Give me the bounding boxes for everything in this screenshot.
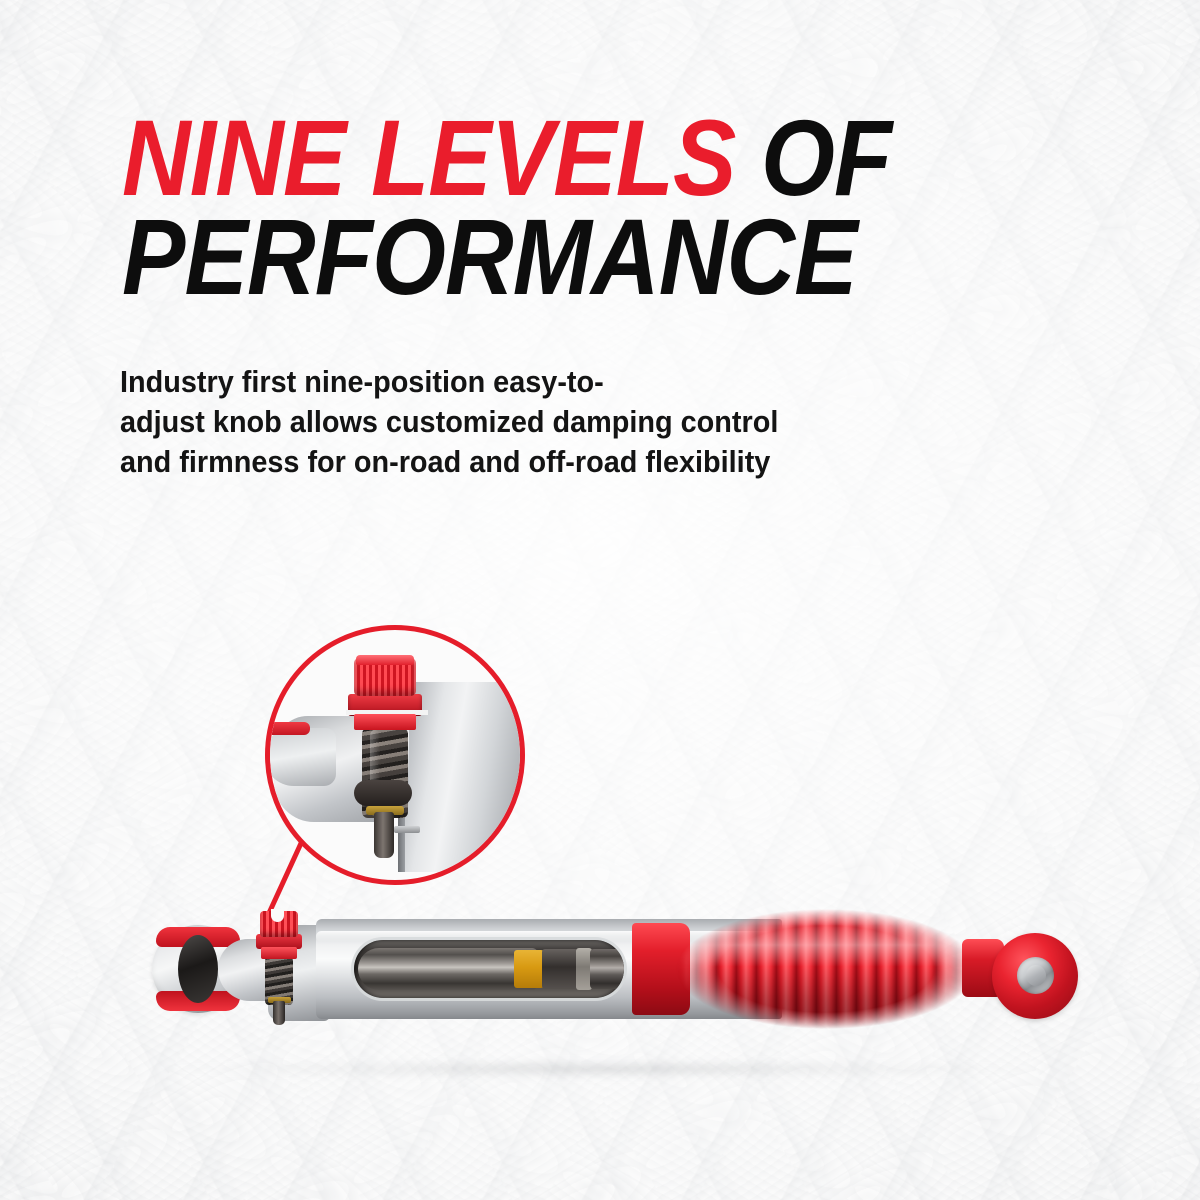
headline-line-1: NINE LEVELS OF: [122, 108, 1002, 207]
zoom-cross-pin: [394, 826, 420, 833]
headline: NINE LEVELS OF PERFORMANCE: [122, 108, 1002, 307]
callout-image: [270, 630, 520, 880]
marketing-banner: NINE LEVELS OF PERFORMANCE Industry firs…: [0, 0, 1200, 1200]
zoom-spring-seat: [354, 780, 412, 806]
headline-line-2: PERFORMANCE: [122, 207, 1002, 306]
zoom-red-bushing-edge: [270, 722, 310, 735]
adjuster-knob-notch: [271, 909, 284, 922]
red-bellows-dust-boot: [632, 909, 1012, 1029]
body-copy-line-2: adjust knob allows customized damping co…: [120, 402, 957, 442]
body-copy-line-3: and firmness for on-road and off-road fl…: [120, 442, 957, 482]
product-drop-shadow: [150, 1058, 1050, 1080]
zoom-knob-collar-lower: [354, 714, 416, 730]
piston-yellow-band: [514, 950, 544, 988]
adjuster-collar-lower: [261, 947, 297, 959]
boot-shading: [676, 909, 976, 1029]
piston-dark-band: [542, 949, 578, 989]
body-copy: Industry first nine-position easy-to- ad…: [120, 362, 957, 482]
zoom-yoke-arm-secondary: [270, 728, 336, 786]
left-bushing-bore: [184, 943, 212, 995]
callout-circle: [265, 625, 525, 885]
cutaway-viewing-window: [354, 940, 624, 998]
internal-piston-rod: [358, 948, 538, 990]
zoom-adjuster-rod: [374, 812, 394, 858]
adjuster-rod: [273, 1001, 285, 1025]
internal-piston-rod-right: [590, 949, 624, 989]
nine-position-adjuster-knob: [252, 909, 306, 1019]
right-eyelet-bore: [1026, 965, 1046, 986]
shock-absorber-product: [140, 895, 1070, 1075]
body-copy-line-1: Industry first nine-position easy-to-: [120, 362, 957, 402]
zoom-knob-cap-top: [356, 655, 414, 665]
